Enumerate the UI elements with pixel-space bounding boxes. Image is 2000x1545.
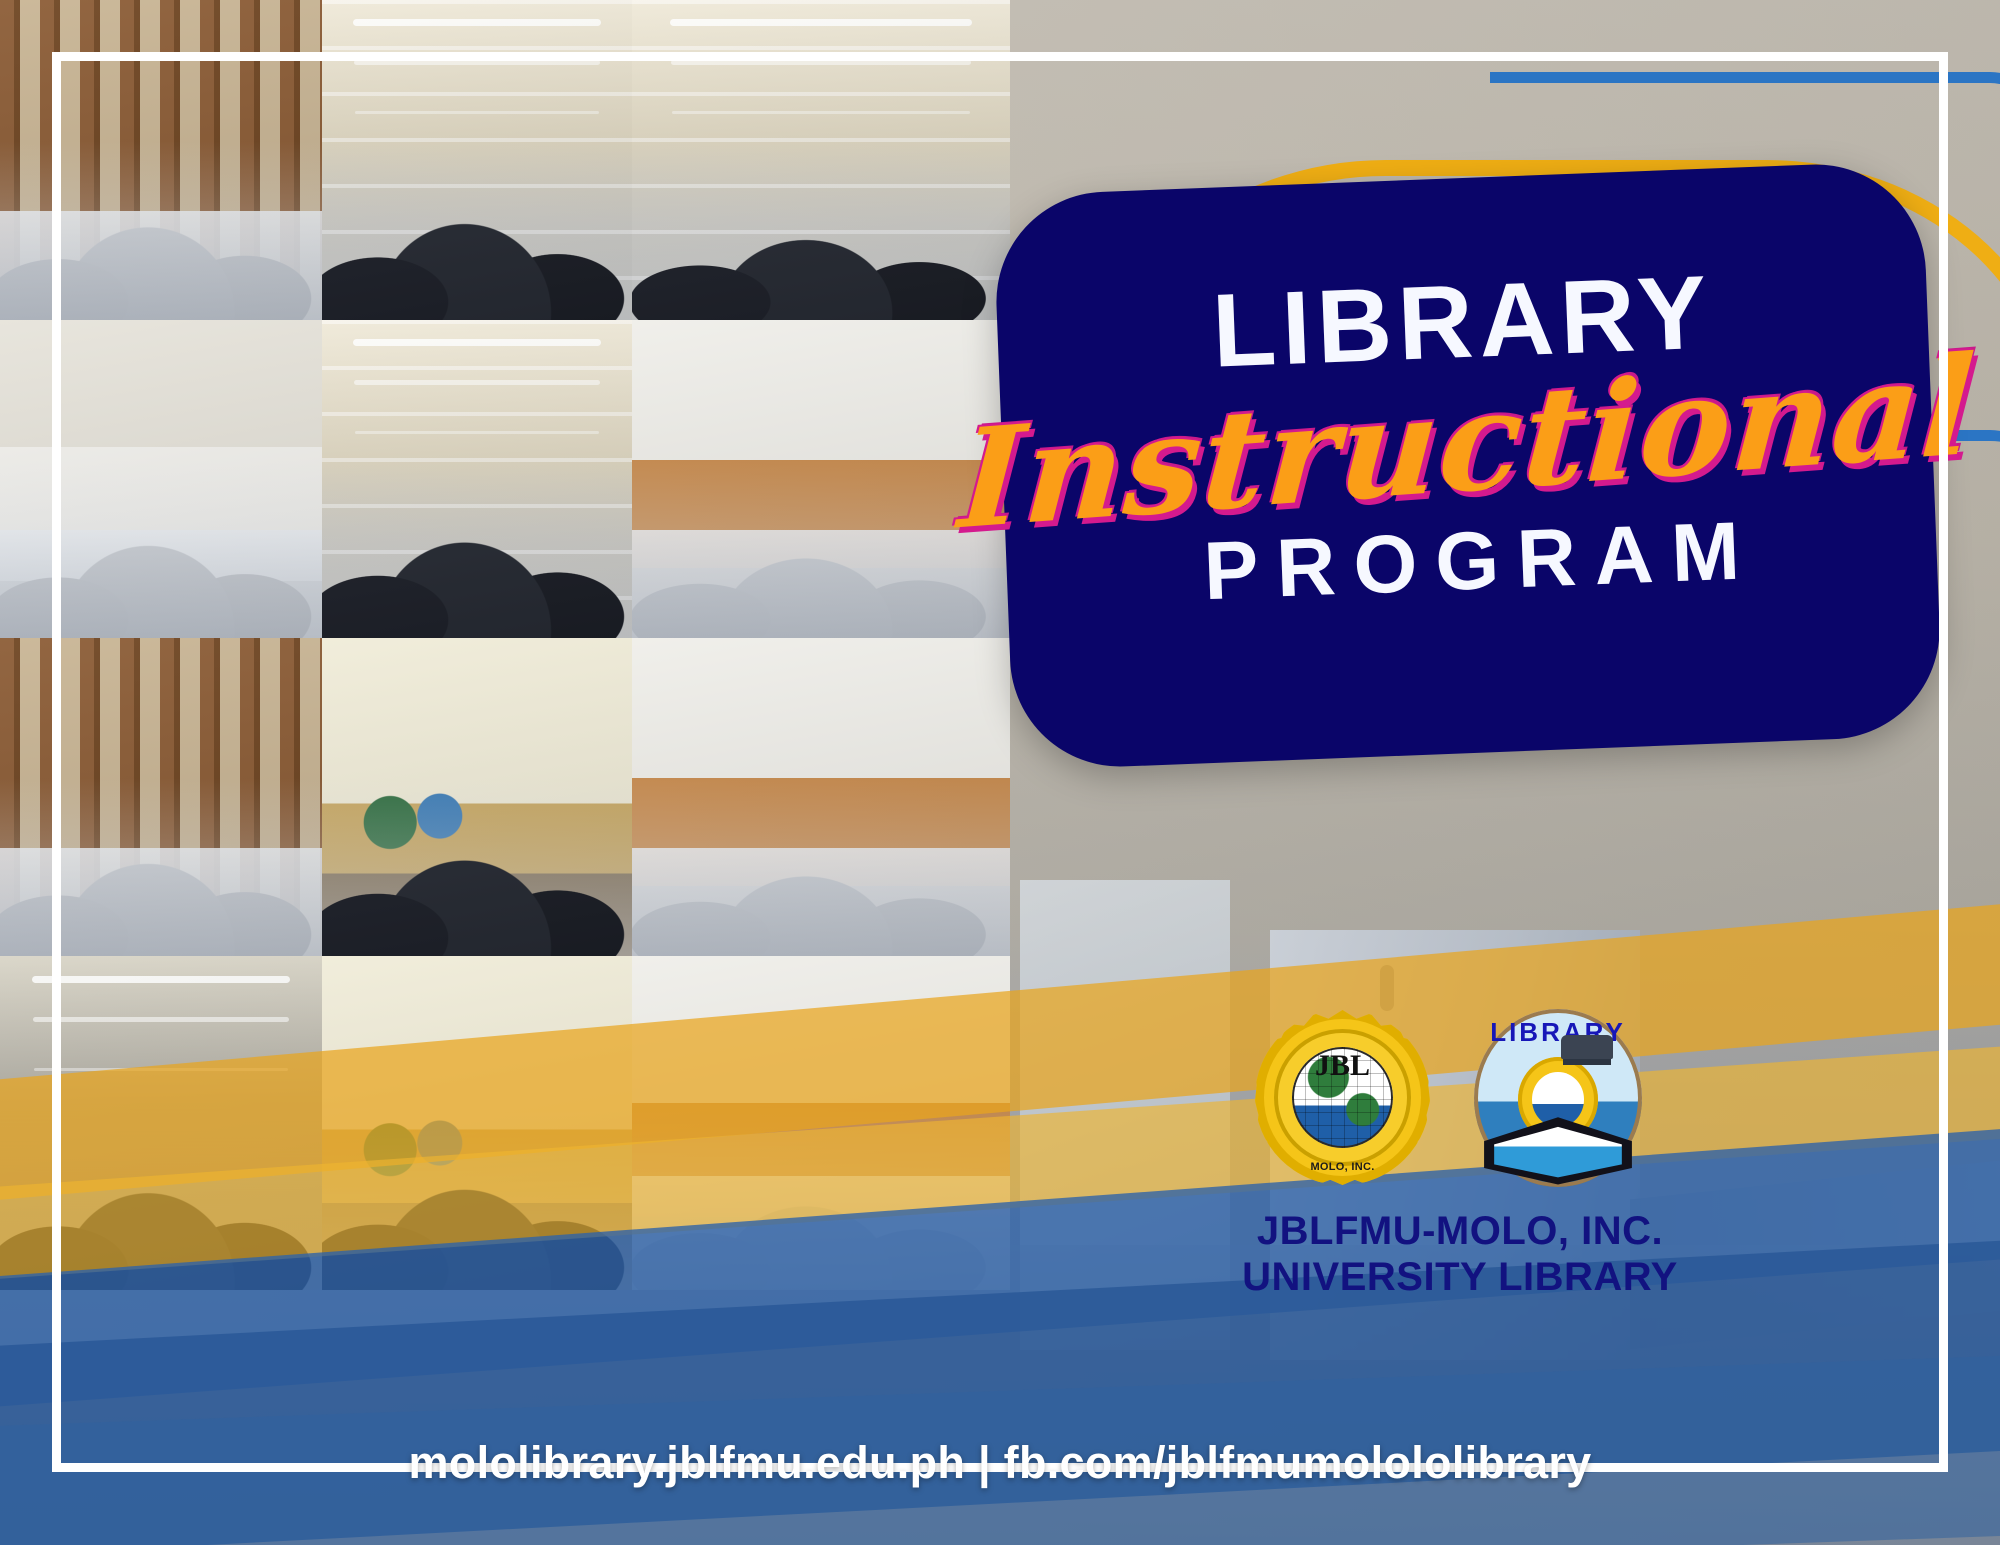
jblfmu-university-seal-icon: JBL MOLO, INC. — [1255, 1010, 1430, 1185]
sailor-cap-icon — [1561, 1035, 1613, 1059]
list-item — [632, 638, 1010, 956]
logo-group: JBL MOLO, INC. LIBRARY — [1255, 1000, 1675, 1195]
list-item — [0, 638, 322, 956]
institution-line-1: JBLFMU-MOLO, INC. — [1150, 1208, 1770, 1254]
list-item — [322, 638, 632, 956]
seal-arc-bottom-text: MOLO, INC. — [1255, 1161, 1430, 1173]
list-item — [0, 320, 322, 638]
institution-line-2: UNIVERSITY LIBRARY — [1150, 1254, 1770, 1300]
library-seal-icon: LIBRARY — [1474, 1009, 1642, 1187]
list-item — [322, 320, 632, 638]
library-instructional-program-poster: LIBRARY Instructional PROGRAM JBL MOLO, … — [0, 0, 2000, 1545]
institution-name: JBLFMU-MOLO, INC. UNIVERSITY LIBRARY — [1150, 1208, 1770, 1301]
list-item — [322, 0, 632, 320]
list-item — [632, 320, 1010, 638]
footer: mololibrary.jblfmu.edu.ph | fb.com/jblfm… — [0, 1437, 2000, 1489]
footer-url-text: mololibrary.jblfmu.edu.ph | fb.com/jblfm… — [408, 1437, 1591, 1489]
title-block: LIBRARY Instructional PROGRAM — [992, 160, 1943, 770]
seal-monogram: JBL — [1255, 1049, 1430, 1083]
title-script-word: Instructional — [955, 335, 1979, 552]
list-item — [632, 0, 1010, 320]
list-item — [0, 0, 322, 320]
library-seal-word: LIBRARY — [1474, 1017, 1642, 1048]
